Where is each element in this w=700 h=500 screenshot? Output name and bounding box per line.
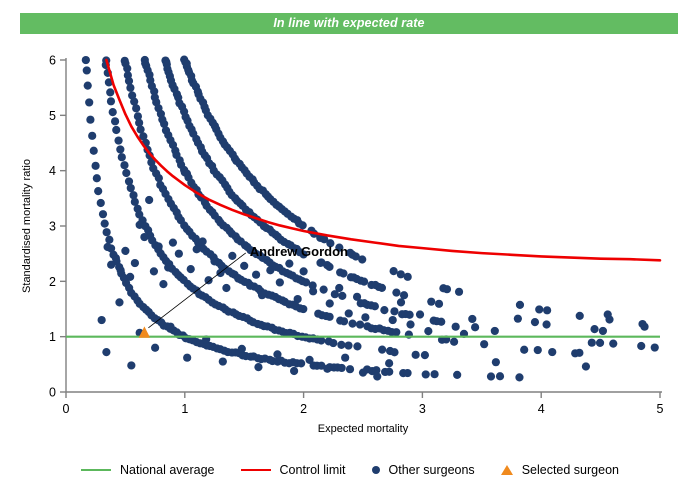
surgeon-point xyxy=(378,346,386,354)
surgeon-point xyxy=(135,119,143,127)
surgeon-point xyxy=(175,250,183,258)
surgeon-point xyxy=(118,153,126,161)
surgeon-point xyxy=(97,199,105,207)
surgeon-point xyxy=(360,278,368,286)
legend-item-control-limit[interactable]: Control limit xyxy=(241,463,346,477)
surgeon-point xyxy=(443,285,451,293)
legend-line-swatch xyxy=(241,469,271,471)
x-tick-label: 1 xyxy=(181,402,188,416)
surgeon-point xyxy=(492,358,500,366)
surgeon-point xyxy=(94,187,102,195)
surgeon-point xyxy=(378,284,386,292)
x-tick-label: 5 xyxy=(657,402,664,416)
surgeon-point xyxy=(290,367,298,375)
surgeon-point xyxy=(339,269,347,277)
surgeon-point xyxy=(337,341,345,349)
surgeon-point xyxy=(193,245,201,253)
surgeon-point xyxy=(588,339,596,347)
surgeon-point xyxy=(285,260,293,268)
surgeon-point xyxy=(258,291,266,299)
surgeon-point xyxy=(83,66,91,74)
chart-page: In line with expected rate 0123456012345… xyxy=(0,0,700,500)
surgeon-point xyxy=(640,323,648,331)
surgeon-point xyxy=(346,365,354,373)
surgeon-point xyxy=(543,306,551,314)
surgeon-point xyxy=(101,220,109,228)
surgeon-point xyxy=(329,339,337,347)
surgeon-point xyxy=(534,346,542,354)
legend-item-other-surgeons[interactable]: Other surgeons xyxy=(372,463,475,477)
surgeon-point xyxy=(276,278,284,286)
surgeon-point xyxy=(358,255,366,263)
surgeon-point xyxy=(246,282,254,290)
surgeon-point xyxy=(181,168,189,176)
surgeon-point xyxy=(254,363,262,371)
surgeon-point xyxy=(82,56,90,64)
surgeon-point xyxy=(136,221,144,229)
surgeon-point xyxy=(353,293,361,301)
y-tick-label: 2 xyxy=(49,275,56,289)
surgeon-point xyxy=(338,292,346,300)
annotation-label: Andrew Gordon xyxy=(250,244,348,259)
surgeon-point xyxy=(390,348,398,356)
y-tick-label: 3 xyxy=(49,220,56,234)
surgeon-point xyxy=(455,288,463,296)
surgeon-point xyxy=(390,267,398,275)
surgeon-point xyxy=(344,341,352,349)
surgeon-point xyxy=(85,98,93,106)
x-axis-title: Expected mortality xyxy=(318,423,409,435)
surgeon-point xyxy=(548,348,556,356)
surgeon-point xyxy=(359,369,367,377)
surgeon-point xyxy=(424,327,432,335)
surgeon-point xyxy=(127,361,135,369)
surgeon-point xyxy=(397,298,405,306)
surgeon-point xyxy=(604,310,612,318)
surgeon-point xyxy=(326,299,334,307)
surgeon-point xyxy=(392,328,400,336)
surgeon-point xyxy=(345,309,353,317)
surgeon-point xyxy=(88,132,96,140)
scatter-plot-canvas: 0123456012345Expected mortalityStandardi… xyxy=(0,0,700,500)
surgeon-point xyxy=(112,254,120,262)
surgeon-point xyxy=(99,210,107,218)
surgeon-point xyxy=(127,184,135,192)
surgeon-point xyxy=(300,267,308,275)
surgeon-point xyxy=(114,136,122,144)
surgeon-point xyxy=(590,325,598,333)
surgeon-point xyxy=(406,311,414,319)
surgeon-point xyxy=(403,369,411,377)
legend-item-label: National average xyxy=(120,463,215,477)
y-tick-label: 1 xyxy=(49,330,56,344)
legend-item-label: Selected surgeon xyxy=(522,463,619,477)
surgeon-point xyxy=(317,258,325,266)
surgeon-point xyxy=(422,370,430,378)
surgeon-point xyxy=(356,320,364,328)
surgeon-point xyxy=(273,350,281,358)
surgeon-point xyxy=(353,342,361,350)
surgeon-point xyxy=(294,295,302,303)
surgeon-point xyxy=(305,356,313,364)
surgeon-point xyxy=(204,276,212,284)
surgeon-point xyxy=(609,340,617,348)
surgeon-point xyxy=(514,315,522,323)
surgeon-point xyxy=(320,285,328,293)
surgeon-point xyxy=(150,267,158,275)
surgeon-point xyxy=(266,266,274,274)
surgeon-point xyxy=(637,342,645,350)
surgeon-point xyxy=(325,263,333,271)
x-tick-label: 3 xyxy=(419,402,426,416)
surgeon-point xyxy=(326,313,334,321)
surgeon-point xyxy=(132,104,140,112)
surgeon-point xyxy=(107,261,115,269)
legend-item-label: Other surgeons xyxy=(389,463,475,477)
surgeon-point xyxy=(450,338,458,346)
surgeon-point xyxy=(151,344,159,352)
surgeon-point xyxy=(404,273,412,281)
surgeon-point xyxy=(309,287,317,295)
surgeon-point xyxy=(427,298,435,306)
surgeon-point xyxy=(121,247,129,255)
y-axis-title: Standardised mortality ratio xyxy=(21,159,33,293)
surgeon-point xyxy=(599,327,607,335)
surgeon-point xyxy=(400,291,408,299)
surgeon-point xyxy=(166,323,174,331)
funnel-plot: 0123456012345Expected mortalityStandardi… xyxy=(0,0,700,500)
surgeon-point xyxy=(575,349,583,357)
y-tick-label: 4 xyxy=(49,164,56,178)
surgeon-point xyxy=(299,221,307,229)
surgeon-point xyxy=(155,242,163,250)
legend-line-swatch xyxy=(81,469,111,471)
surgeon-point xyxy=(199,237,207,245)
surgeon-point xyxy=(84,82,92,90)
y-tick-label: 5 xyxy=(49,109,56,123)
surgeon-point xyxy=(126,273,134,281)
surgeon-point xyxy=(111,117,119,125)
surgeon-point xyxy=(531,318,539,326)
surgeon-point xyxy=(480,340,488,348)
surgeon-point xyxy=(116,145,124,153)
surgeon-point xyxy=(371,302,379,310)
surgeon-point xyxy=(115,298,123,306)
surgeon-point xyxy=(103,228,111,236)
surgeon-point xyxy=(380,306,388,314)
surgeon-point xyxy=(103,243,111,251)
surgeon-point xyxy=(389,316,397,324)
surgeon-point xyxy=(435,300,443,308)
surgeon-point xyxy=(452,323,460,331)
surgeon-point xyxy=(228,252,236,260)
x-tick-label: 4 xyxy=(538,402,545,416)
surgeon-point xyxy=(576,312,584,320)
surgeon-point xyxy=(102,348,110,356)
surgeon-point xyxy=(164,263,172,271)
surgeon-point xyxy=(297,359,305,367)
surgeon-point xyxy=(433,317,441,325)
surgeon-point xyxy=(421,351,429,359)
surgeon-point xyxy=(109,108,117,116)
surgeon-point xyxy=(430,370,438,378)
surgeon-point xyxy=(390,307,398,315)
legend-dot-icon xyxy=(372,466,380,474)
surgeon-point xyxy=(131,259,139,267)
legend-item-selected-surgeon[interactable]: Selected surgeon xyxy=(501,463,619,477)
surgeon-point xyxy=(416,310,424,318)
surgeon-point xyxy=(93,174,101,182)
surgeon-point xyxy=(234,274,242,282)
surgeon-point xyxy=(340,317,348,325)
surgeon-point xyxy=(471,323,479,331)
surgeon-point xyxy=(392,288,400,296)
surgeon-point xyxy=(238,345,246,353)
surgeon-point xyxy=(106,88,114,96)
surgeon-point xyxy=(112,126,120,134)
surgeon-point xyxy=(412,351,420,359)
surgeon-point xyxy=(219,357,227,365)
surgeon-point xyxy=(222,284,230,292)
surgeon-point xyxy=(140,233,148,241)
surgeon-point xyxy=(338,364,346,372)
surgeon-point xyxy=(126,84,134,92)
surgeon-point xyxy=(299,305,307,313)
surgeon-point xyxy=(385,368,393,376)
surgeon-point xyxy=(582,362,590,370)
legend-triangle-icon xyxy=(501,465,513,475)
surgeon-point xyxy=(542,320,550,328)
surgeon-point xyxy=(125,77,133,85)
surgeon-point xyxy=(145,196,153,204)
surgeon-point xyxy=(323,365,331,373)
surgeon-point xyxy=(117,266,125,274)
surgeon-point xyxy=(120,161,128,169)
surgeon-point xyxy=(187,265,195,273)
surgeon-point xyxy=(98,316,106,324)
surgeon-point xyxy=(122,169,130,177)
surgeon-point xyxy=(240,262,248,270)
surgeon-point xyxy=(105,236,113,244)
surgeon-point xyxy=(155,174,163,182)
annotation-leader-line xyxy=(148,253,245,328)
surgeon-point xyxy=(515,373,523,381)
chart-legend: National averageControl limitOther surge… xyxy=(0,455,700,485)
surgeon-point xyxy=(468,315,476,323)
surgeon-point xyxy=(406,320,414,328)
surgeon-point xyxy=(520,346,528,354)
surgeon-point xyxy=(385,359,393,367)
surgeon-point xyxy=(341,354,349,362)
surgeon-point xyxy=(516,301,524,309)
surgeon-point xyxy=(210,257,218,265)
surgeon-point xyxy=(596,339,604,347)
surgeon-point xyxy=(491,327,499,335)
surgeon-point xyxy=(159,280,167,288)
surgeon-point xyxy=(453,371,461,379)
surgeon-point xyxy=(373,372,381,380)
surgeon-point xyxy=(252,271,260,279)
surgeon-point xyxy=(335,284,343,292)
surgeon-point xyxy=(86,116,94,124)
surgeon-point xyxy=(169,239,177,247)
surgeon-point xyxy=(651,343,659,351)
legend-item-national-average[interactable]: National average xyxy=(81,463,215,477)
surgeon-band-arcs xyxy=(82,56,659,382)
y-tick-label: 6 xyxy=(49,54,56,68)
surgeon-point xyxy=(496,372,504,380)
surgeon-point xyxy=(348,320,356,328)
surgeon-point xyxy=(535,305,543,313)
x-tick-label: 0 xyxy=(63,402,70,416)
surgeon-point xyxy=(361,313,369,321)
surgeon-point xyxy=(183,354,191,362)
surgeon-point xyxy=(91,162,99,170)
surgeon-point xyxy=(107,97,115,105)
legend-item-label: Control limit xyxy=(280,463,346,477)
y-tick-label: 0 xyxy=(49,386,56,400)
x-tick-label: 2 xyxy=(300,402,307,416)
surgeon-point xyxy=(487,372,495,380)
surgeon-point xyxy=(90,147,98,155)
